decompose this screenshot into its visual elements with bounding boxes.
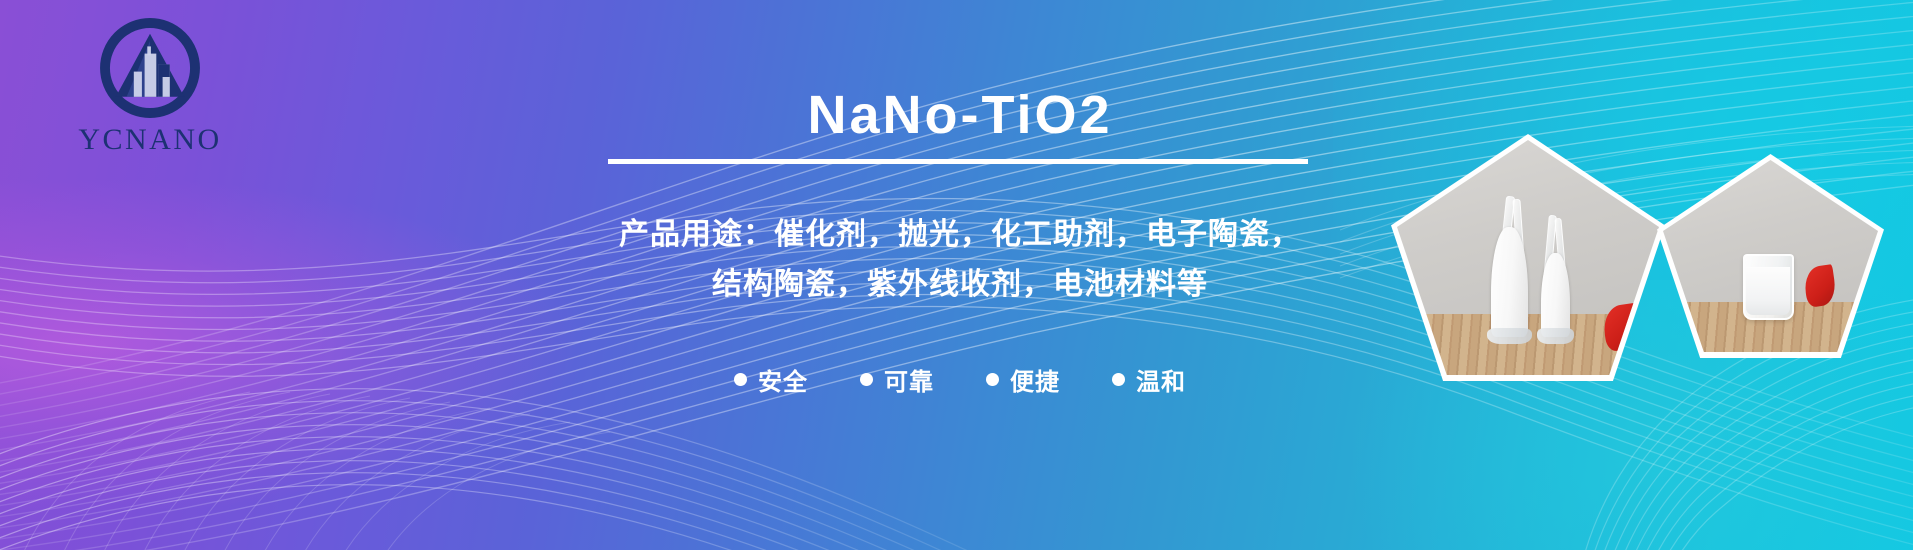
photo-backdrop [1397,140,1659,314]
feature-label: 安全 [758,362,808,397]
product-usage-description: 产品用途：催化剂，抛光，化工助剂，电子陶瓷， 结构陶瓷，紫外线收剂，电池材料等 [550,210,1370,310]
bullet-dot-icon [860,373,873,386]
feature-item-reliable: 可靠 [860,362,934,397]
page-title: NaNo-TiO2 [560,88,1360,142]
product-photo-vases-scene [1397,140,1659,375]
product-photo-beaker-scene [1663,160,1878,352]
feature-item-mild: 温和 [1112,362,1186,397]
feature-label: 温和 [1136,362,1186,397]
title-divider [608,159,1308,164]
bullet-dot-icon [734,373,747,386]
description-line-2: 结构陶瓷，紫外线收剂，电池材料等 [550,260,1370,310]
feature-list: 安全 可靠 便捷 温和 [560,362,1360,397]
titanium-dioxide-slurry [1746,267,1790,315]
product-photo-vases [1397,140,1659,375]
white-vase-short [1541,253,1570,338]
bullet-dot-icon [1112,373,1125,386]
bullet-dot-icon [986,373,999,386]
product-photo-beaker [1663,160,1878,352]
company-logo[interactable]: YCNANO [52,14,248,155]
vase-base [1537,328,1574,344]
description-line-1: 产品用途：催化剂，抛光，化工助剂，电子陶瓷， [550,210,1370,260]
magenta-glow-decoration [0,180,580,510]
mountain-in-circle-emblem-icon [96,14,204,122]
feature-item-safe: 安全 [734,362,808,397]
white-vase-tall [1491,227,1528,337]
banner-content: NaNo-TiO2 产品用途：催化剂，抛光，化工助剂，电子陶瓷， 结构陶瓷，紫外… [560,0,1360,550]
feature-label: 便捷 [1010,362,1060,397]
glass-beaker [1743,254,1794,319]
feature-label: 可靠 [884,362,934,397]
feature-item-convenient: 便捷 [986,362,1060,397]
vase-base [1487,328,1532,344]
product-banner: YCNANO NaNo-TiO2 产品用途：催化剂，抛光，化工助剂，电子陶瓷， … [0,0,1913,550]
logo-wordmark: YCNANO [52,125,248,155]
